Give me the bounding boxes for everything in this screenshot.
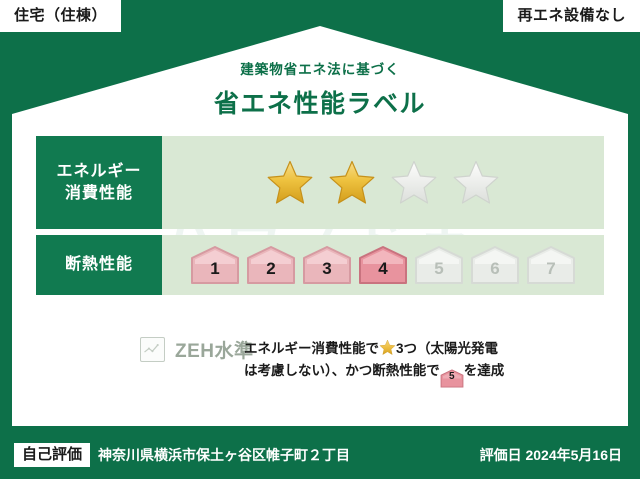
star-icon xyxy=(379,339,396,356)
evaluation-date-label: 評価日 xyxy=(480,447,522,463)
insulation-rank-2: 2 xyxy=(246,245,296,285)
star-icon-filled xyxy=(266,159,314,207)
insulation-label-line1: 断熱性能 xyxy=(65,254,133,276)
insulation-rank-1: 1 xyxy=(190,245,240,285)
zeh-text-part3: は考慮しない）、かつ断熱性能で xyxy=(244,363,440,378)
insulation-rank-4: 4 xyxy=(358,245,408,285)
label-subtitle: 建築物省エネ法に基づく xyxy=(0,58,640,78)
insulation-rank-scale: 1234567 xyxy=(162,235,604,295)
insulation-rank-3: 3 xyxy=(302,245,352,285)
insulation-rank-7: 7 xyxy=(526,245,576,285)
insulation-rank-5: 5 xyxy=(414,245,464,285)
zeh-criteria-text: エネルギー消費性能で3つ（太陽光発電 は考慮しない）、かつ断熱性能で5を達成 xyxy=(244,338,544,388)
star-icon-empty xyxy=(390,159,438,207)
zeh-text-part1: エネルギー消費性能で xyxy=(244,341,379,356)
zeh-standard-label: ZEH水準 xyxy=(175,336,254,363)
insulation-rank-value: 1 xyxy=(210,259,219,279)
renewable-energy-tag: 再エネ設備なし xyxy=(503,0,640,32)
zeh-text-part2: 3つ（太陽光発電 xyxy=(396,341,498,356)
zeh-mark-icon xyxy=(140,337,165,362)
energy-label-line1: エネルギー xyxy=(56,161,141,183)
page-title: 省エネ性能ラベル xyxy=(0,84,640,120)
property-address: 神奈川県横浜市保土ヶ谷区帷子町２丁目 xyxy=(98,445,350,465)
insulation-performance-row: 断熱性能 1234567 xyxy=(36,235,604,295)
inline-rank-badge: 5 xyxy=(440,369,464,388)
label-footer: 自己評価 神奈川県横浜市保土ヶ谷区帷子町２丁目 評価日 2024年5月16日 xyxy=(0,431,640,479)
insulation-rank-value: 3 xyxy=(322,259,331,279)
energy-performance-label: エネルギー 消費性能 xyxy=(36,136,162,229)
insulation-rank-value: 4 xyxy=(378,259,387,279)
evaluation-date: 評価日 2024年5月16日 xyxy=(480,445,622,465)
insulation-rank-value: 5 xyxy=(434,259,443,279)
zeh-standard-block: ZEH水準 xyxy=(140,336,254,363)
energy-performance-label: ハウスドゥ 住宅（住棟） 再エネ設備なし 建築物省エネ法に基づく 省エネ性能ラベ… xyxy=(0,0,640,479)
insulation-performance-label: 断熱性能 xyxy=(36,235,162,295)
star-icon-filled xyxy=(328,159,376,207)
insulation-rank-6: 6 xyxy=(470,245,520,285)
insulation-rank-value: 2 xyxy=(266,259,275,279)
evaluation-type-badge: 自己評価 xyxy=(14,443,90,467)
insulation-rank-value: 7 xyxy=(546,259,555,279)
energy-performance-row: エネルギー 消費性能 xyxy=(36,136,604,229)
title-block: 建築物省エネ法に基づく 省エネ性能ラベル xyxy=(0,58,640,120)
insulation-rank-value: 6 xyxy=(490,259,499,279)
zeh-text-part4: を達成 xyxy=(464,363,505,378)
evaluation-date-value: 2024年5月16日 xyxy=(525,447,622,463)
energy-star-rating xyxy=(162,136,604,229)
star-icon-empty xyxy=(452,159,500,207)
energy-label-line2: 消費性能 xyxy=(65,183,133,205)
inline-rank-value: 5 xyxy=(449,369,455,386)
building-type-tag: 住宅（住棟） xyxy=(0,0,121,32)
